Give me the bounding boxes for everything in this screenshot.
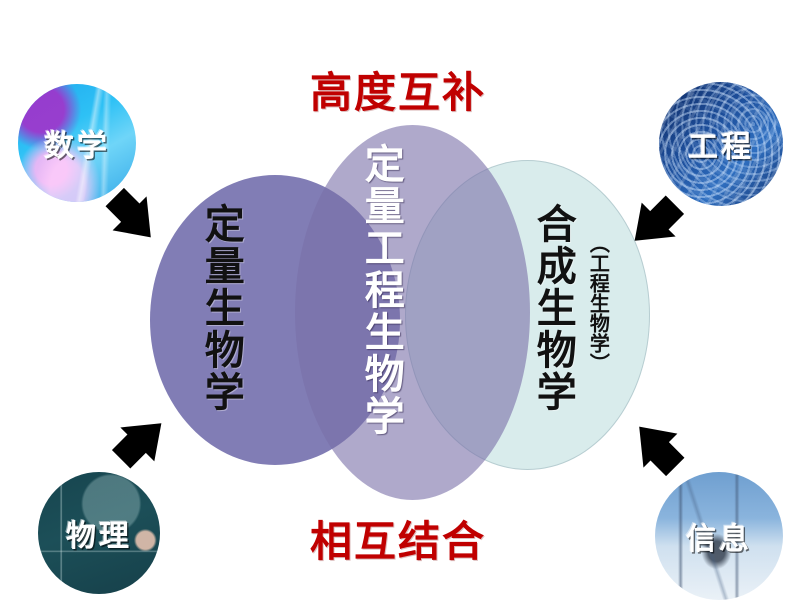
venn-label-quantitative-biology: 定量生物学 [200,203,241,413]
bottom-headline: 相互结合 [0,521,796,563]
venn-label-synthetic-biology: 合成生物学 [532,203,573,413]
arrow-up-right-icon [112,412,174,478]
arrow-down-left-icon [622,190,684,256]
venn-label-synthetic-biology-note: （工程生物学） [588,233,608,373]
venn-label-quantitative-engineering-biology: 定量工程生物学 [360,143,401,437]
venn-circle-quantitative-engineering-biology [295,125,530,500]
arrow-up-left-icon [628,414,690,480]
venn-diagram: 定量生物学 定量工程生物学 合成生物学 （工程生物学） [140,125,660,500]
source-circle-engineering-label: 工程 [659,122,783,166]
arrow-down-right-icon [100,188,162,254]
source-circle-engineering: 工程 [659,82,783,206]
source-circle-math-label: 数学 [18,121,136,165]
slide-canvas: 高度互补 定量生物学 定量工程生物学 合成生物学 （工程生物学） 数学 工程 物… [0,0,796,613]
source-circle-math: 数学 [18,84,136,202]
